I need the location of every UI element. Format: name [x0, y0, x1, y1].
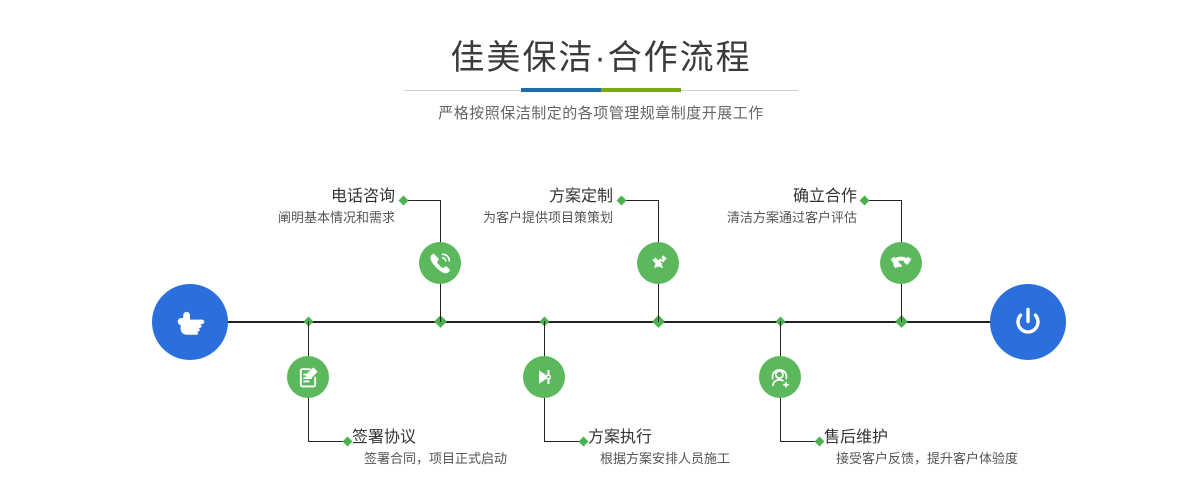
- timeline-start-node: [152, 284, 228, 360]
- page-title: 佳美保洁·合作流程: [0, 36, 1202, 80]
- step-title-4: 方案执行: [588, 427, 848, 449]
- pointing-hand-icon: [170, 302, 210, 342]
- step-title-6: 售后维护: [824, 427, 1104, 449]
- title-divider: [0, 84, 1202, 98]
- page-subtitle: 严格按照保洁制定的各项管理规章制度开展工作: [0, 103, 1202, 125]
- phone-call-icon: [427, 250, 453, 276]
- step-title-1: 电话咨询: [150, 186, 395, 208]
- step-desc-3: 为客户提供项目策策划: [368, 208, 613, 228]
- step-node-2[interactable]: [287, 356, 329, 398]
- step-node-5[interactable]: [880, 242, 922, 284]
- step-desc-2: 签署合同，项目正式启动: [352, 449, 602, 469]
- pencil-ruler-icon: [646, 251, 671, 276]
- connector-tip-step-2: [343, 437, 353, 447]
- handshake-icon: [888, 250, 914, 276]
- step-title-3: 方案定制: [368, 186, 613, 208]
- step-label-2: 签署协议 签署合同，项目正式启动: [352, 427, 602, 469]
- connector-step-4-lead: [544, 441, 582, 442]
- step-title-2: 签署协议: [352, 427, 602, 449]
- power-icon: [1008, 302, 1048, 342]
- divider-accent-blue: [521, 88, 601, 92]
- step-node-1[interactable]: [419, 242, 461, 284]
- step-title-5: 确立合作: [612, 186, 857, 208]
- connector-step-6-lead: [780, 441, 818, 442]
- process-flow-diagram: 佳美保洁·合作流程 严格按照保洁制定的各项管理规章制度开展工作: [0, 0, 1202, 502]
- step-desc-5: 清洁方案通过客户评估: [612, 208, 857, 228]
- divider-accent-green: [601, 88, 681, 92]
- step-label-1: 电话咨询 阐明基本情况和需求: [150, 186, 395, 228]
- connector-step-5-lead: [865, 200, 902, 201]
- play-forward-icon: [532, 365, 556, 389]
- connector-step-2-lead: [308, 441, 346, 442]
- step-desc-1: 阐明基本情况和需求: [150, 208, 395, 228]
- step-node-6[interactable]: [759, 356, 801, 398]
- step-node-4[interactable]: [523, 356, 565, 398]
- step-desc-4: 根据方案安排人员施工: [588, 449, 848, 469]
- headset-support-icon: [768, 365, 793, 390]
- step-desc-6: 接受客户反馈，提升客户体验度: [824, 449, 1104, 469]
- step-label-5: 确立合作 清洁方案通过客户评估: [612, 186, 857, 228]
- document-edit-icon: [296, 365, 321, 390]
- header: 佳美保洁·合作流程 严格按照保洁制定的各项管理规章制度开展工作: [0, 0, 1202, 125]
- step-label-6: 售后维护 接受客户反馈，提升客户体验度: [824, 427, 1104, 469]
- step-label-4: 方案执行 根据方案安排人员施工: [588, 427, 848, 469]
- connector-tip-step-5: [860, 196, 870, 206]
- step-node-3[interactable]: [637, 242, 679, 284]
- timeline-end-node: [990, 284, 1066, 360]
- step-label-3: 方案定制 为客户提供项目策策划: [368, 186, 613, 228]
